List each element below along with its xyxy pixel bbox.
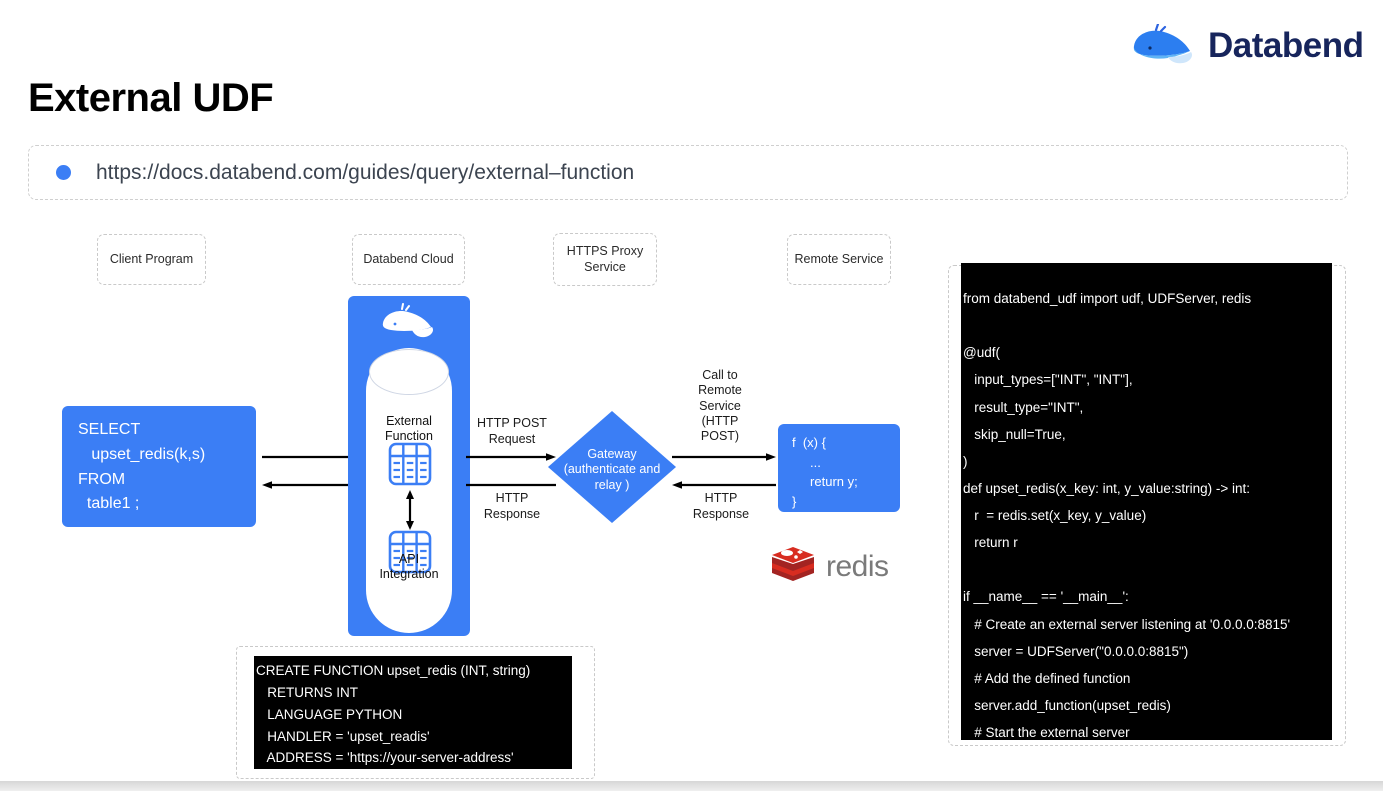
sql-snippet-code: CREATE FUNCTION upset_redis (INT, string… <box>254 656 572 769</box>
arrow-gateway-to-cloud <box>466 478 556 490</box>
brand-name: Databend <box>1208 26 1363 66</box>
redis-logo-icon <box>770 544 816 591</box>
arrow-remote-to-gateway <box>672 478 776 490</box>
whale-icon <box>378 303 440 341</box>
whale-logo-icon <box>1128 24 1198 68</box>
lane-header-https-proxy: HTTPS Proxy Service <box>553 233 657 286</box>
arrow-cloud-to-gateway <box>466 450 556 462</box>
page-title: External UDF <box>28 76 273 121</box>
url-callout: https://docs.databend.com/guides/query/e… <box>28 145 1348 200</box>
redis-label: redis <box>826 550 889 584</box>
doc-url-text[interactable]: https://docs.databend.com/guides/query/e… <box>96 161 634 185</box>
lane-header-client: Client Program <box>97 234 206 285</box>
footer-bar <box>0 781 1383 791</box>
api-integration-label: API Integration <box>360 552 458 582</box>
double-arrow-vertical-icon <box>402 490 418 530</box>
table-grid-icon <box>388 442 432 486</box>
python-snippet-code: from databend_udf import udf, UDFServer,… <box>961 263 1332 740</box>
remote-function-box: f (x) { ... return y; } <box>778 424 900 512</box>
redis-logo: redis <box>770 545 910 589</box>
http-post-request-label: HTTP POST Request <box>464 416 560 447</box>
lane-header-databend-cloud: Databend Cloud <box>352 234 465 285</box>
http-response-right-label: HTTP Response <box>674 491 768 522</box>
cloud-cylinder-top <box>369 349 449 395</box>
external-function-label: External Function <box>366 414 452 444</box>
call-to-remote-label: Call to Remote Service (HTTP POST) <box>672 368 768 444</box>
gateway-node <box>548 411 676 523</box>
client-query-box: SELECT upset_redis(k,s) FROM table1 ; <box>62 406 256 527</box>
arrow-gateway-to-remote <box>672 450 776 462</box>
http-response-left-label: HTTP Response <box>464 491 560 522</box>
bullet-dot-icon <box>56 165 71 180</box>
databend-logo: Databend <box>1128 22 1368 70</box>
lane-header-remote-service: Remote Service <box>787 234 891 285</box>
